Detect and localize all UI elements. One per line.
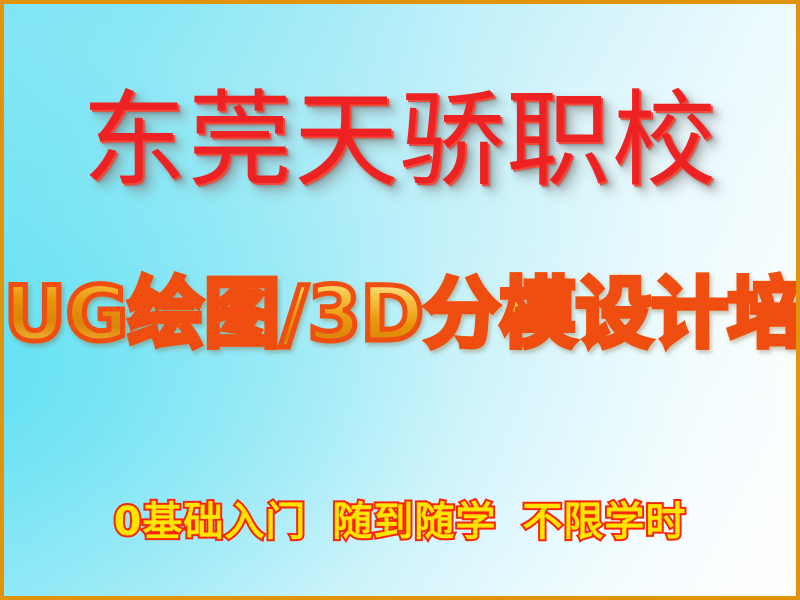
tagline-segment-1: 0基础入门 [114, 499, 307, 545]
poster-tagline: 0基础入门随到随学不限学时 [4, 498, 796, 546]
promo-poster: 东莞天骄职校 UG绘图/3D分模设计培训 0基础入门随到随学不限学时 [0, 0, 800, 600]
poster-course-name: UG绘图/3D分模设计培训 [4, 262, 796, 366]
poster-title: 东莞天骄职校 [4, 78, 796, 202]
tagline-segment-2: 随到随学 [332, 499, 496, 545]
tagline-segment-3: 不限学时 [522, 499, 686, 545]
